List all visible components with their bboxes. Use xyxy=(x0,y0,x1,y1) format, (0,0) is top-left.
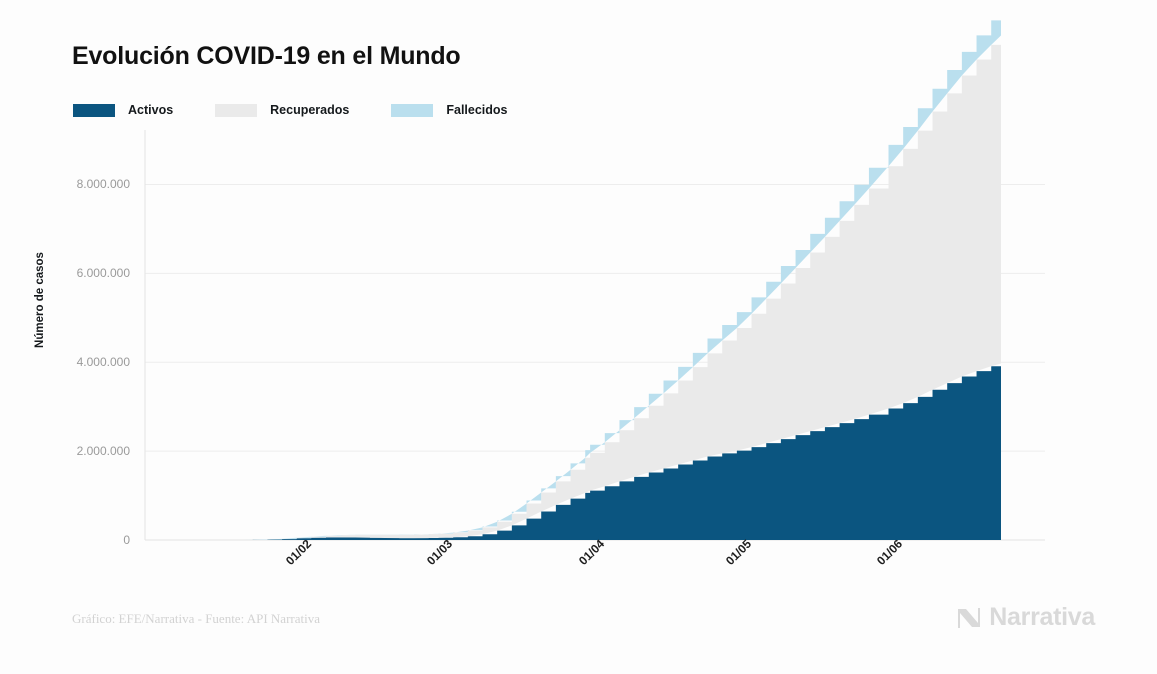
chart-plot-area: Número de casos 02.000.0004.000.0006.000… xyxy=(0,0,1157,674)
chart-card: Evolución COVID-19 en el Mundo Activos R… xyxy=(0,0,1157,674)
y-tick-label: 2.000.000 xyxy=(0,444,130,458)
brand-wordmark: Narrativa xyxy=(989,603,1095,632)
narrativa-logo: Narrativa xyxy=(956,603,1095,632)
y-tick-label: 0 xyxy=(0,533,130,547)
y-tick-label: 6.000.000 xyxy=(0,266,130,280)
y-tick-label: 4.000.000 xyxy=(0,355,130,369)
source-note: Gráfico: EFE/Narrativa - Fuente: API Nar… xyxy=(72,611,320,627)
stacked-area-svg xyxy=(0,0,1157,674)
y-tick-label: 8.000.000 xyxy=(0,177,130,191)
narrativa-n-logo-icon xyxy=(956,605,982,631)
